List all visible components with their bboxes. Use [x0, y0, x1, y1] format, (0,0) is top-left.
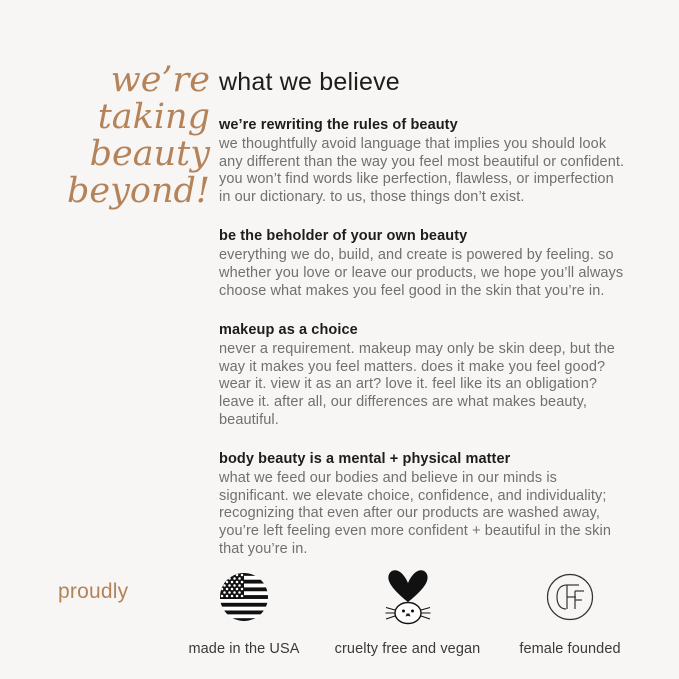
badge-female-founded: female founded [500, 568, 640, 657]
display-heading-line-4: beyond! [40, 173, 210, 210]
page-title: what we believe [219, 68, 627, 96]
display-heading-line-1: we’re [40, 62, 210, 99]
belief-body: we thoughtfully avoid language that impl… [219, 136, 627, 206]
belief-heading: makeup as a choice [219, 321, 627, 340]
badge-label: female founded [500, 641, 640, 657]
main-content: what we believe we’re rewriting the rule… [219, 68, 627, 558]
belief-block: makeup as a choice never a requirement. … [219, 321, 627, 429]
badge-cruelty-free: cruelty free and vegan [325, 568, 490, 657]
believe-page: we’re taking beauty beyond! what we beli… [0, 0, 679, 679]
belief-body: never a requirement. makeup may only be … [219, 341, 627, 429]
display-heading: we’re taking beauty beyond! [40, 62, 210, 210]
cruelty-free-bunny-icon [325, 568, 490, 626]
belief-block: be the beholder of your own beauty every… [219, 227, 627, 300]
badge-label: cruelty free and vegan [325, 641, 490, 657]
display-heading-line-3: beauty [40, 136, 210, 173]
badge-row: proudly [0, 560, 679, 670]
belief-body: what we feed our bodies and believe in o… [219, 470, 627, 558]
proudly-label: proudly [58, 580, 128, 604]
belief-block: we’re rewriting the rules of beauty we t… [219, 116, 627, 206]
badge-made-in-usa: made in the USA [174, 568, 314, 657]
belief-heading: be the beholder of your own beauty [219, 227, 627, 246]
belief-heading: we’re rewriting the rules of beauty [219, 116, 627, 135]
usa-flag-circle-icon [174, 568, 314, 626]
belief-body: everything we do, build, and create is p… [219, 247, 627, 300]
badge-label: made in the USA [174, 641, 314, 657]
female-founded-monogram-icon [500, 568, 640, 626]
display-heading-line-2: taking [40, 99, 210, 136]
belief-block: body beauty is a mental + physical matte… [219, 450, 627, 558]
belief-heading: body beauty is a mental + physical matte… [219, 450, 627, 469]
